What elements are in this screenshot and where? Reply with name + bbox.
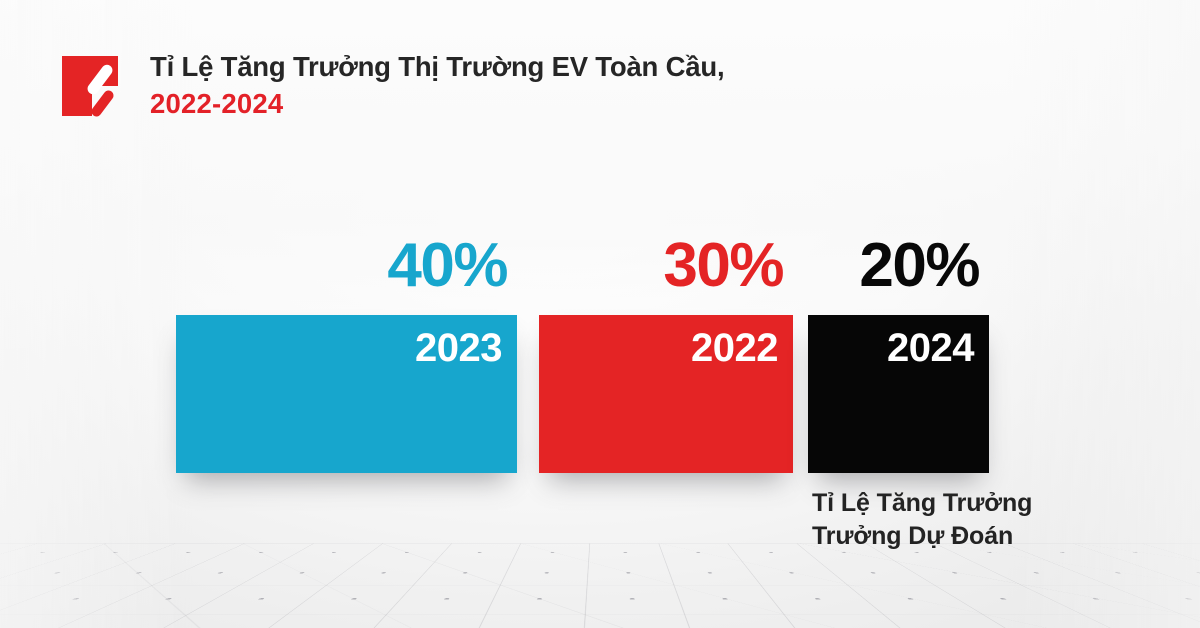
- bar-year-label-2023: 2023: [415, 315, 517, 368]
- header: Tỉ Lệ Tăng Trưởng Thị Trường EV Toàn Cầu…: [58, 48, 724, 124]
- title-block: Tỉ Lệ Tăng Trưởng Thị Trường EV Toàn Cầu…: [150, 48, 724, 120]
- bar-year-label-2022: 2022: [691, 315, 793, 368]
- bar-value-label-2024: 20%: [859, 235, 979, 315]
- chart-caption-line-1: Tỉ Lệ Tăng Trưởng: [812, 487, 1032, 520]
- bar-value-label-2022: 30%: [663, 235, 783, 315]
- bar-group-2022: 30% 2022: [539, 315, 793, 473]
- chart-caption-line-2: Trưởng Dự Đoán: [812, 520, 1032, 553]
- page-title: Tỉ Lệ Tăng Trưởng Thị Trường EV Toàn Cầu…: [150, 50, 724, 84]
- chart-caption: Tỉ Lệ Tăng Trưởng Trưởng Dự Đoán: [812, 487, 1032, 554]
- infographic-canvas: Tỉ Lệ Tăng Trưởng Thị Trường EV Toàn Cầu…: [0, 0, 1200, 628]
- bar-year-label-2024: 2024: [887, 315, 989, 368]
- page-subtitle: 2022-2024: [150, 87, 724, 121]
- bar-2023: 40% 2023: [176, 315, 517, 473]
- bar-group-2023: 40% 2023: [176, 315, 517, 473]
- brand-logo-icon: [58, 52, 130, 124]
- bar-2024: 20% 2024: [808, 315, 989, 473]
- bar-group-2024: 20% 2024: [808, 315, 989, 473]
- bar-2022: 30% 2022: [539, 315, 793, 473]
- bar-value-label-2023: 40%: [387, 235, 507, 315]
